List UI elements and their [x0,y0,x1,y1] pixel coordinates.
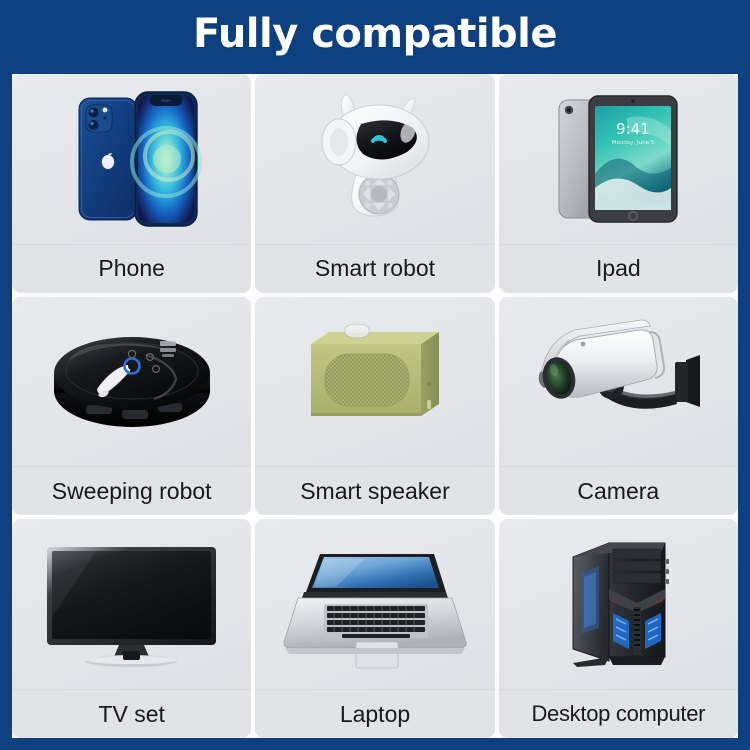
compatibility-banner: Fully compatible [0,0,750,750]
tv-set-art [12,519,251,689]
grid-cell-smart-speaker[interactable]: Smart speaker [255,297,494,516]
ipad-time: 9:41 [616,120,650,138]
camera-icon [523,316,713,446]
desktop-computer-icon [543,529,693,679]
grid-cell-smart-robot[interactable]: Smart robot [255,74,494,293]
grid-cell-camera[interactable]: Camera [499,297,738,516]
grid-cell-label: Ipad [499,244,738,293]
grid-cell-label: Sweeping robot [12,466,251,515]
device-grid: Phone [12,74,738,738]
laptop-icon [280,534,470,674]
grid-cell-sweeping-robot[interactable]: Sweeping robot [12,297,251,516]
smart-robot-art [255,74,494,244]
sweeping-robot-art [12,297,251,467]
camera-art [499,297,738,467]
grid-cell-label: Smart robot [255,244,494,293]
sweeping-robot-icon [42,311,222,451]
smart-robot-icon [295,84,455,234]
page-title: Fully compatible [193,14,557,54]
laptop-art [255,519,494,689]
svg-text:Monday, June 5: Monday, June 5 [612,140,655,146]
smart-speaker-icon [287,314,462,449]
grid-cell-laptop[interactable]: Laptop [255,519,494,738]
phone-icon [57,84,207,234]
grid-cell-label: Smart speaker [255,466,494,515]
grid-cell-label: Laptop [255,689,494,738]
grid-cell-phone[interactable]: Phone [12,74,251,293]
phone-art [12,74,251,244]
header: Fully compatible [0,0,750,68]
grid-cell-label: Desktop computer [499,689,738,738]
grid-cell-tv-set[interactable]: TV set [12,519,251,738]
grid-cell-label: Phone [12,244,251,293]
ipad-art: 9:41 Monday, June 5 [499,74,738,244]
smart-speaker-art [255,297,494,467]
desktop-computer-art [499,519,738,689]
grid-cell-ipad[interactable]: 9:41 Monday, June 5 Ipad [499,74,738,293]
tv-set-icon [39,539,224,669]
grid-cell-desktop-computer[interactable]: Desktop computer [499,519,738,738]
grid-cell-label: Camera [499,466,738,515]
ipad-icon: 9:41 Monday, June 5 [543,84,693,234]
grid-cell-label: TV set [12,689,251,738]
